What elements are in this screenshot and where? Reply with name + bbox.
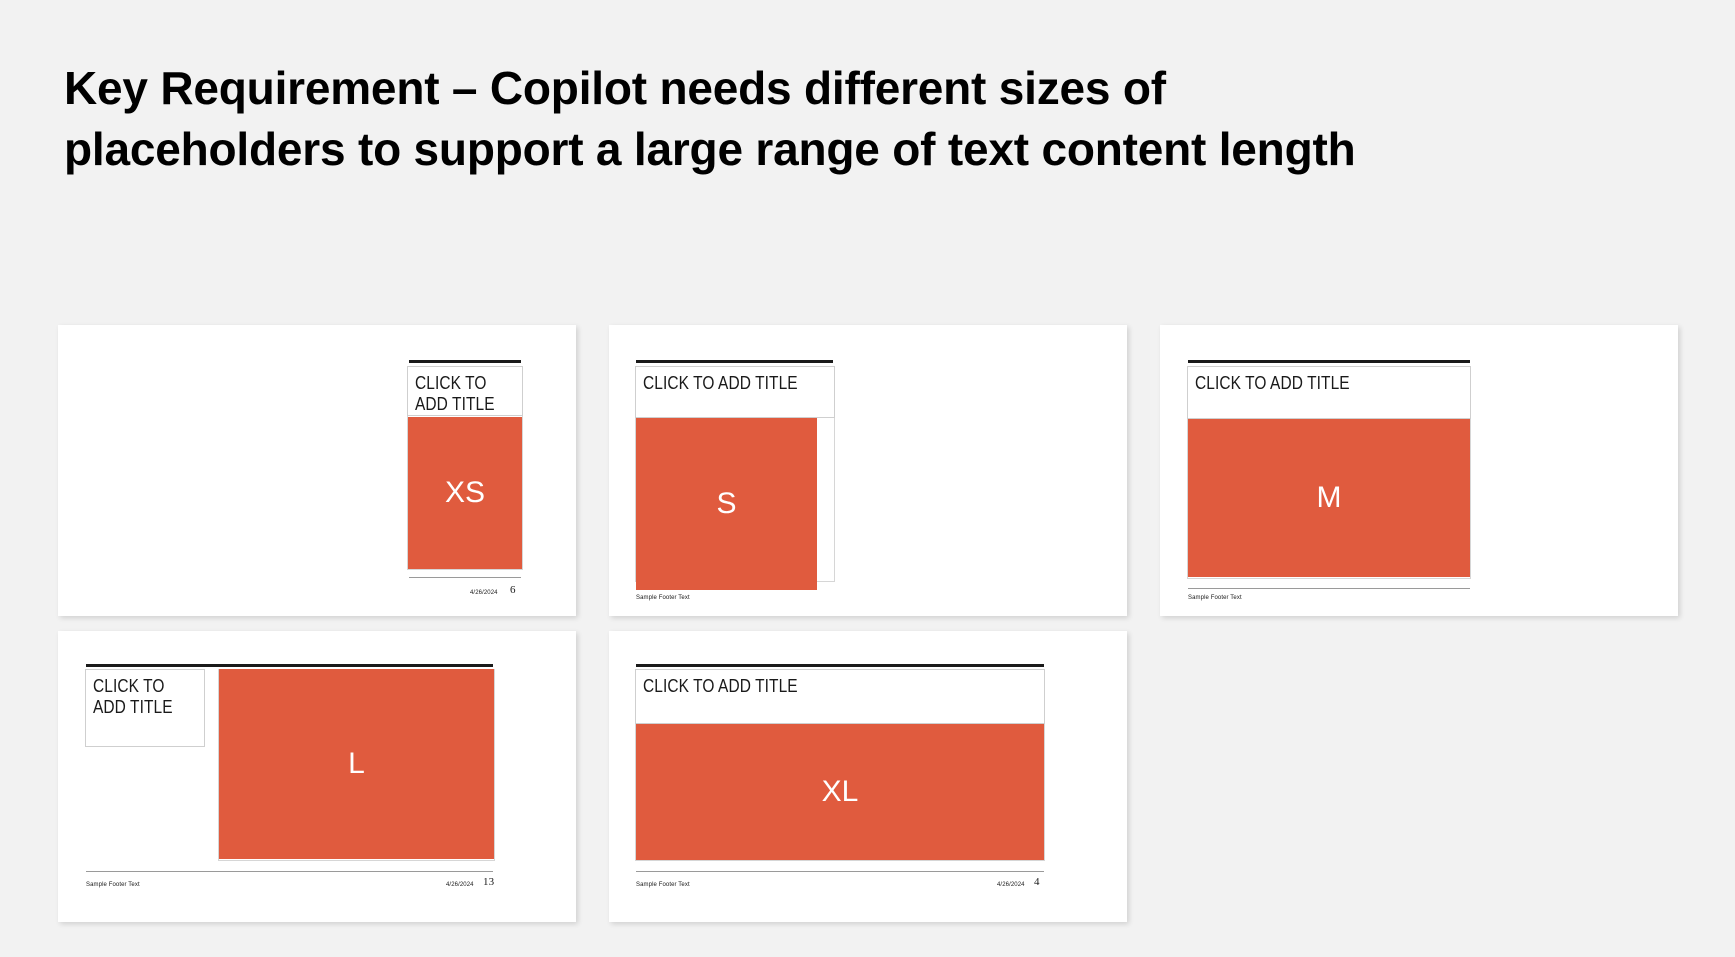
- thumbnail-row-1: CLICK TO ADD TITLE XS 4/26/2024 6 CLICK …: [58, 325, 1698, 616]
- footer-date: 4/26/2024: [470, 590, 498, 596]
- title-placeholder-l[interactable]: CLICK TO ADD TITLE: [85, 669, 205, 747]
- content-placeholder-xl[interactable]: XL: [636, 724, 1044, 860]
- size-label: S: [716, 489, 736, 519]
- title-placeholder-xl[interactable]: CLICK TO ADD TITLE: [635, 669, 1045, 724]
- title-placeholder-text: CLICK TO ADD TITLE: [1195, 373, 1425, 394]
- footer-text: Sample Footer Text: [1188, 595, 1242, 601]
- title-top-rule: [86, 664, 493, 667]
- slide-thumbnail-s[interactable]: CLICK TO ADD TITLE S Sample Footer Text: [609, 325, 1127, 616]
- slide-thumbnail-xl[interactable]: CLICK TO ADD TITLE XL Sample Footer Text…: [609, 631, 1127, 922]
- size-label: XL: [822, 777, 859, 807]
- content-placeholder-xs[interactable]: XS: [408, 417, 522, 569]
- slide-canvas-s: CLICK TO ADD TITLE S Sample Footer Text: [609, 325, 1127, 616]
- footer-top-rule: [86, 871, 493, 872]
- footer-page-number: 6: [510, 584, 516, 596]
- page-title-line-2: placeholders to support a large range of…: [64, 119, 1624, 180]
- page-title-line-1: Key Requirement – Copilot needs differen…: [64, 58, 1624, 119]
- thumbnail-row-2: CLICK TO ADD TITLE L Sample Footer Text …: [58, 631, 1698, 922]
- slide-thumbnail-l[interactable]: CLICK TO ADD TITLE L Sample Footer Text …: [58, 631, 576, 922]
- footer-date: 4/26/2024: [997, 882, 1025, 888]
- title-placeholder-m[interactable]: CLICK TO ADD TITLE: [1187, 366, 1471, 419]
- slide-canvas-m: CLICK TO ADD TITLE M Sample Footer Text: [1160, 325, 1678, 616]
- content-placeholder-s[interactable]: S: [636, 418, 817, 590]
- slide-thumbnail-xs[interactable]: CLICK TO ADD TITLE XS 4/26/2024 6: [58, 325, 576, 616]
- footer-top-rule: [409, 577, 521, 578]
- slide-thumbnail-grid: CLICK TO ADD TITLE XS 4/26/2024 6 CLICK …: [58, 325, 1698, 937]
- footer-top-rule: [636, 871, 1044, 872]
- footer-text: Sample Footer Text: [86, 882, 140, 888]
- footer-page-number: 13: [483, 876, 494, 888]
- footer-top-rule: [1188, 588, 1470, 589]
- footer-text: Sample Footer Text: [636, 882, 690, 888]
- title-top-rule: [1188, 360, 1470, 363]
- size-label: XS: [445, 478, 485, 508]
- title-placeholder-text: CLICK TO ADD TITLE: [415, 373, 501, 415]
- footer-page-number: 4: [1034, 876, 1040, 888]
- title-placeholder-s[interactable]: CLICK TO ADD TITLE: [635, 366, 835, 418]
- footer-date: 4/26/2024: [446, 882, 474, 888]
- page-title: Key Requirement – Copilot needs differen…: [64, 58, 1624, 180]
- slide-canvas-xl: CLICK TO ADD TITLE XL Sample Footer Text…: [609, 631, 1127, 922]
- title-top-rule: [636, 360, 833, 363]
- size-label: M: [1317, 483, 1342, 513]
- title-top-rule: [636, 664, 1044, 667]
- title-top-rule: [409, 360, 521, 363]
- title-placeholder-text: CLICK TO ADD TITLE: [93, 676, 182, 718]
- title-placeholder-text: CLICK TO ADD TITLE: [643, 676, 982, 697]
- size-label: L: [348, 749, 365, 779]
- content-placeholder-m[interactable]: M: [1188, 419, 1470, 577]
- slide-thumbnail-m[interactable]: CLICK TO ADD TITLE M Sample Footer Text: [1160, 325, 1678, 616]
- title-placeholder-xs[interactable]: CLICK TO ADD TITLE: [407, 366, 523, 416]
- slide-canvas-xs: CLICK TO ADD TITLE XS 4/26/2024 6: [58, 325, 576, 616]
- slide-canvas-l: CLICK TO ADD TITLE L Sample Footer Text …: [58, 631, 576, 922]
- title-placeholder-text: CLICK TO ADD TITLE: [643, 373, 801, 394]
- footer-text: Sample Footer Text: [636, 595, 690, 601]
- content-placeholder-l[interactable]: L: [219, 669, 494, 859]
